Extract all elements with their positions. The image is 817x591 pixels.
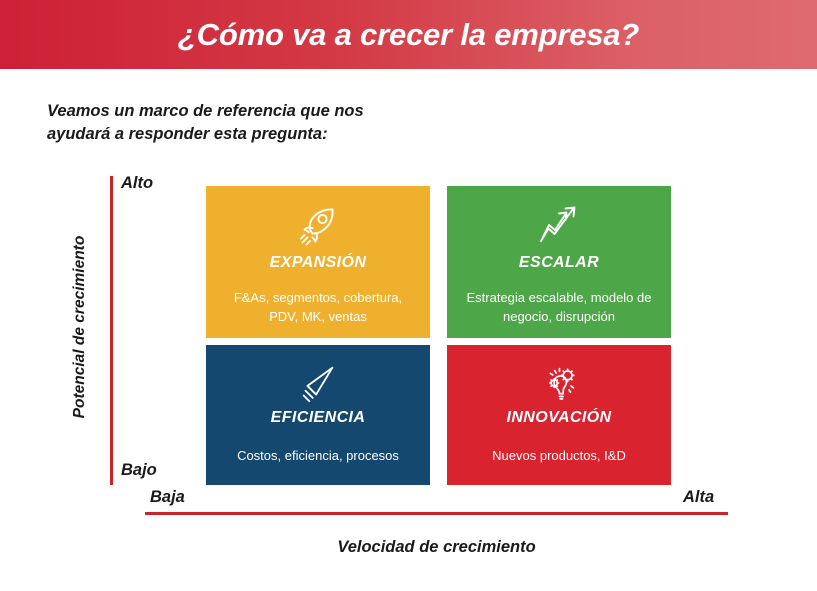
y-axis-tick-high: Alto — [121, 174, 153, 193]
growth-matrix: Potencial de crecimiento Velocidad de cr… — [0, 0, 817, 591]
quadrant-escalar[interactable]: ESCALAR Estrategia escalable, modelo de … — [447, 186, 671, 338]
x-axis-line — [145, 512, 728, 515]
quadrant-eficiencia[interactable]: EFICIENCIA Costos, eficiencia, procesos — [206, 345, 430, 485]
quadrant-description: F&As, segmentos, cobertura, PDV, MK, ven… — [218, 289, 418, 327]
quadrant-label: EXPANSIÓN — [270, 254, 367, 272]
y-axis-line — [110, 176, 113, 485]
x-axis-title: Velocidad de crecimiento — [145, 538, 728, 557]
quadrant-description: Estrategia escalable, modelo de negocio,… — [459, 289, 659, 327]
quadrant-expansion[interactable]: EXPANSIÓN F&As, segmentos, cobertura, PD… — [206, 186, 430, 338]
quadrant-label: INNOVACIÓN — [506, 409, 611, 427]
rocket-icon — [294, 202, 342, 252]
lightbulb-gears-icon — [536, 361, 582, 407]
quadrant-innovacion[interactable]: INNOVACIÓN Nuevos productos, I&D — [447, 345, 671, 485]
x-axis-tick-high: Alta — [683, 488, 714, 507]
quadrant-description: Costos, eficiencia, procesos — [218, 447, 418, 466]
quadrant-label: ESCALAR — [519, 254, 599, 272]
quadrant-label: EFICIENCIA — [271, 409, 366, 427]
quadrant-description: Nuevos productos, I&D — [459, 447, 659, 466]
x-axis-tick-low: Baja — [150, 488, 185, 507]
y-axis-title: Potencial de crecimiento — [71, 217, 89, 437]
paper-plane-icon — [295, 361, 341, 407]
growth-arrow-icon — [535, 202, 583, 252]
y-axis-tick-low: Bajo — [121, 461, 157, 480]
